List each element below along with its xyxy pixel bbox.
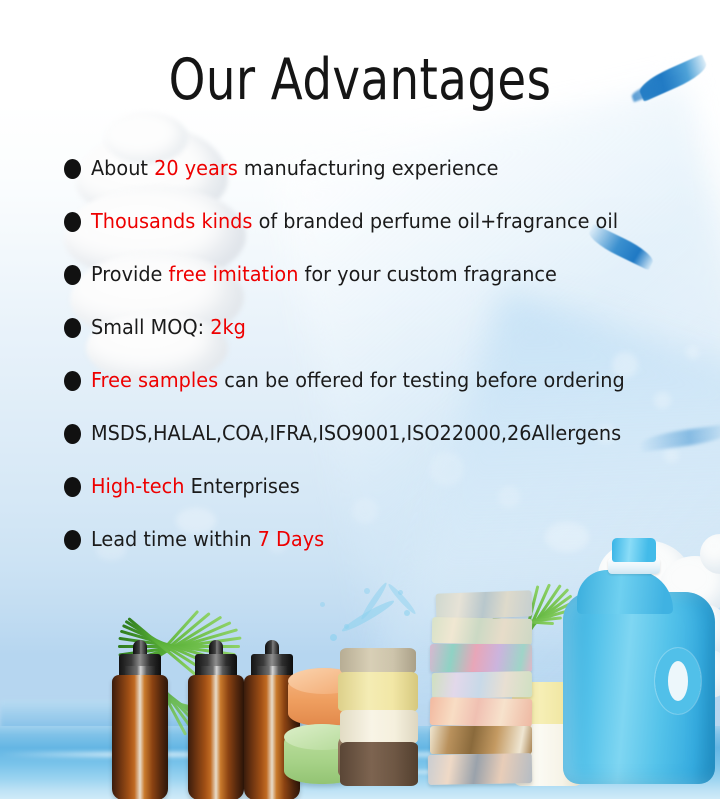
- soap-bar: [432, 671, 532, 699]
- list-item: Provide free imitation for your custom f…: [64, 261, 664, 314]
- advantage-text-5: MSDS,HALAL,COA,IFRA,ISO9001,ISO22000,26A…: [91, 420, 621, 446]
- page-title: Our Advantages: [65, 52, 655, 109]
- advantage-text-4: Free samples can be offered for testing …: [91, 367, 625, 393]
- list-item: About 20 years manufacturing experience: [64, 155, 664, 208]
- bokeh-circle: [664, 448, 679, 463]
- bullet-dot-icon: [64, 530, 81, 550]
- bullet-dot-icon: [64, 424, 81, 444]
- bokeh-circle: [686, 346, 699, 359]
- soap-bar-oatmeal: [430, 726, 532, 754]
- list-item: Small MOQ: 2kg: [64, 314, 664, 367]
- soap-bar: [436, 590, 533, 619]
- soap-bar: [432, 617, 532, 645]
- list-item: MSDS,HALAL,COA,IFRA,ISO9001,ISO22000,26A…: [64, 420, 664, 473]
- advantage-text-6: High-tech Enterprises: [91, 473, 300, 499]
- advantages-list: About 20 years manufacturing experience …: [64, 155, 664, 579]
- soap-bar: [430, 644, 532, 672]
- bullet-dot-icon: [64, 371, 81, 391]
- yellow-cylinder: [338, 672, 418, 712]
- list-item: Lead time within 7 Days: [64, 526, 664, 579]
- list-item: Free samples can be offered for testing …: [64, 367, 664, 420]
- soap-bar: [428, 753, 533, 785]
- advantage-text-0: About 20 years manufacturing experience: [91, 155, 499, 181]
- bullet-dot-icon: [64, 477, 81, 497]
- bullet-dot-icon: [64, 265, 81, 285]
- bullet-dot-icon: [64, 159, 81, 179]
- advantages-poster: Our Advantages About 20 years manufactur…: [0, 0, 720, 799]
- detergent-handle: [655, 648, 701, 714]
- advantage-text-2: Provide free imitation for your custom f…: [91, 261, 557, 287]
- soap-bar: [430, 697, 532, 727]
- advantage-text-7: Lead time within 7 Days: [91, 526, 324, 552]
- bullet-dot-icon: [64, 318, 81, 338]
- detergent-cap: [612, 538, 656, 562]
- list-item: High-tech Enterprises: [64, 473, 664, 526]
- cream-cylinder: [340, 710, 418, 744]
- dropper-bottle: [112, 640, 168, 799]
- bottle-body: [188, 675, 244, 799]
- advantage-text-1: Thousands kinds of branded perfume oil+f…: [91, 208, 618, 234]
- beige-cylinder: [340, 648, 416, 674]
- advantage-text-3: Small MOQ: 2kg: [91, 314, 246, 340]
- bottle-body: [112, 675, 168, 799]
- dropper-bottle: [188, 640, 244, 799]
- bullet-dot-icon: [64, 212, 81, 232]
- list-item: Thousands kinds of branded perfume oil+f…: [64, 208, 664, 261]
- brown-cylinder: [340, 742, 418, 786]
